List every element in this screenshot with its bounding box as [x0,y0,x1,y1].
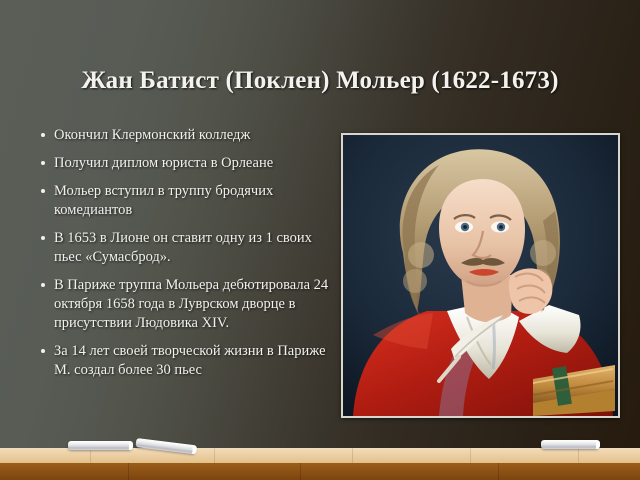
list-item-label: В 1653 в Лионе он ставит одну из 1 своих… [54,229,340,267]
list-item: За 14 лет своей творческой жизни в Париж… [40,342,340,380]
chalk-ledge-front [0,463,640,480]
bullet-list: Окончил Клермонский колледж Получил дипл… [40,126,340,389]
chalk-stick[interactable] [68,441,132,450]
page-title: Жан Батист (Поклен) Мольер (1622-1673) [0,65,640,97]
list-item-label: Окончил Клермонский колледж [54,126,340,145]
bullet-dot-icon [41,236,45,240]
list-item: Мольер вступил в труппу бродячих комедиа… [40,182,340,220]
slide: Жан Батист (Поклен) Мольер (1622-1673) О… [0,0,640,480]
bullet-dot-icon [41,349,45,353]
bullet-dot-icon [41,161,45,165]
bullet-dot-icon [41,133,45,137]
list-item: Получил диплом юриста в Орлеане [40,154,340,173]
list-item: В 1653 в Лионе он ставит одну из 1 своих… [40,229,340,267]
list-item-label: Получил диплом юриста в Орлеане [54,154,340,173]
list-item: Окончил Клермонский колледж [40,126,340,145]
portrait-artwork [343,135,618,416]
portrait-image [341,133,620,418]
bullet-dot-icon [41,283,45,287]
list-item-label: Мольер вступил в труппу бродячих комедиа… [54,182,340,220]
list-item: В Париже труппа Мольера дебютировала 24 … [40,276,340,333]
list-item-label: За 14 лет своей творческой жизни в Париж… [54,342,340,380]
chalk-stick[interactable] [541,440,599,449]
chalk-ledge-top [0,448,640,463]
bullet-dot-icon [41,189,45,193]
list-item-label: В Париже труппа Мольера дебютировала 24 … [54,276,340,333]
